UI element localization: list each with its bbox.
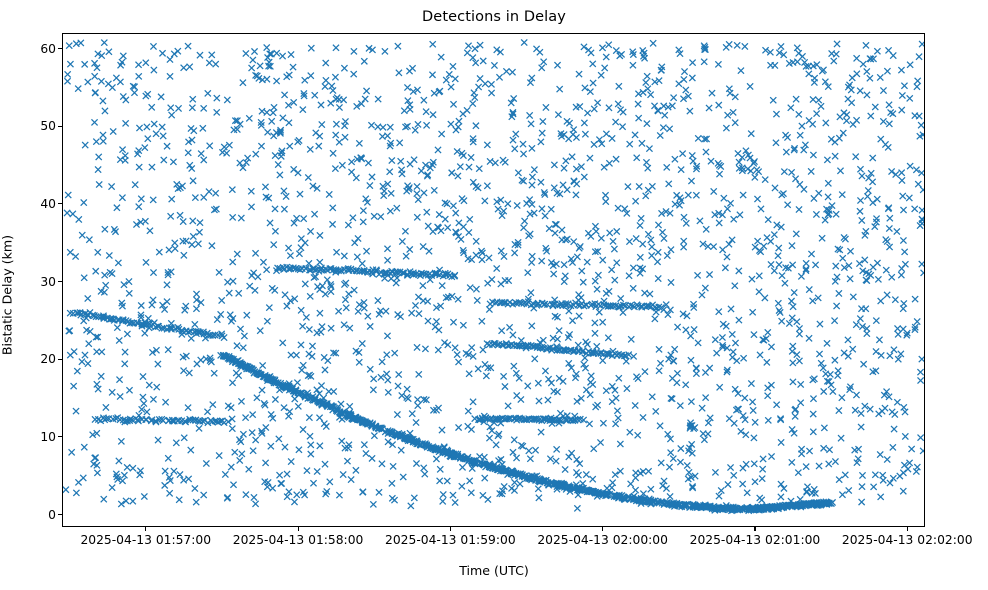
x-axis-tick-label: 2025-04-13 02:02:00 [842, 533, 973, 547]
x-axis-tick-label: 2025-04-13 02:00:00 [537, 533, 668, 547]
y-axis-tick-label: 0 [14, 508, 56, 522]
x-axis-tick-mark [602, 527, 603, 531]
x-axis-label: Time (UTC) [0, 563, 988, 578]
x-axis-tick-label: 2025-04-13 01:57:00 [80, 533, 211, 547]
plot-area [62, 33, 925, 527]
x-axis-tick-label: 2025-04-13 01:58:00 [233, 533, 364, 547]
y-axis-tick-label: 60 [14, 42, 56, 56]
x-axis-tick-mark [907, 527, 908, 531]
page-title: Detections in Delay [0, 9, 988, 25]
x-axis-tick-mark [450, 527, 451, 531]
x-axis-tick-mark [298, 527, 299, 531]
scatter-points [63, 34, 924, 526]
matplotlib-figure: Detections in Delay Bistatic Delay (km) … [0, 0, 988, 590]
y-axis-label: Bistatic Delay (km) [0, 195, 15, 395]
x-axis-tick-label: 2025-04-13 02:01:00 [690, 533, 821, 547]
y-axis-tick-label: 20 [14, 352, 56, 366]
y-axis-tick-label: 10 [14, 430, 56, 444]
x-axis-tick-mark [754, 527, 755, 531]
x-axis-tick-label: 2025-04-13 01:59:00 [385, 533, 516, 547]
x-axis-tick-mark [145, 527, 146, 531]
y-axis-tick-label: 30 [14, 275, 56, 289]
y-axis-tick-label: 50 [14, 119, 56, 133]
y-axis-tick-label: 40 [14, 197, 56, 211]
